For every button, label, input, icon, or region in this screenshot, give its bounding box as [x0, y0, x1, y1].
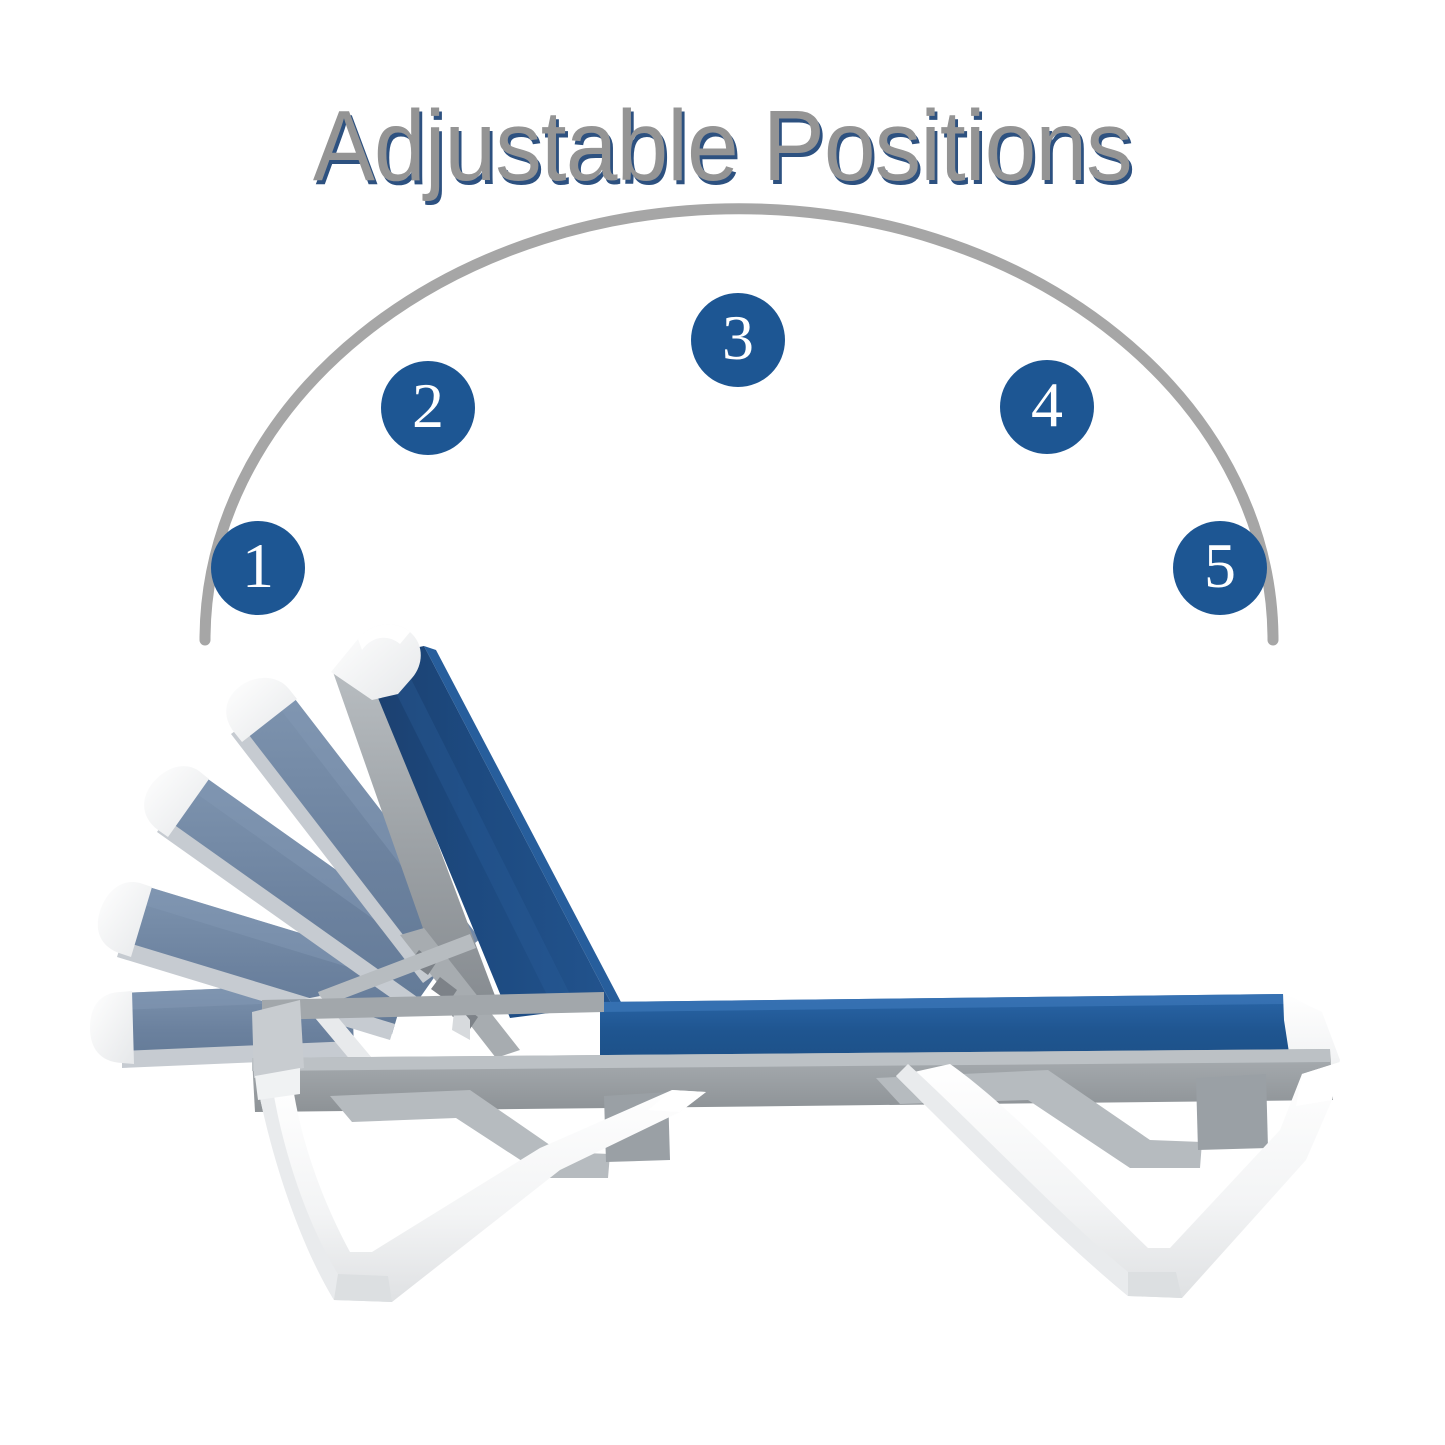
- position-badge-2-label: 2: [412, 374, 444, 438]
- position-badge-2[interactable]: 2: [381, 361, 475, 455]
- position-badge-4[interactable]: 4: [1000, 360, 1094, 454]
- front-leg-foot: [1128, 1272, 1182, 1298]
- position-badge-3-label: 3: [722, 306, 754, 370]
- ghost-1-end-cap: [90, 991, 134, 1064]
- position-badge-1-label: 1: [242, 534, 274, 598]
- position-arc: [205, 209, 1273, 640]
- product-illustration: [0, 0, 1445, 1445]
- position-badge-5[interactable]: 5: [1173, 521, 1267, 615]
- seat-left-end-cap: [252, 1000, 304, 1078]
- position-badge-4-label: 4: [1031, 373, 1063, 437]
- front-leg-inner-post: [1196, 1074, 1268, 1150]
- position-badge-5-label: 5: [1204, 534, 1236, 598]
- infographic-canvas: Adjustable Positions: [0, 0, 1445, 1445]
- rear-leg-foot: [334, 1274, 392, 1302]
- position-badge-1[interactable]: 1: [211, 521, 305, 615]
- position-badge-3[interactable]: 3: [691, 293, 785, 387]
